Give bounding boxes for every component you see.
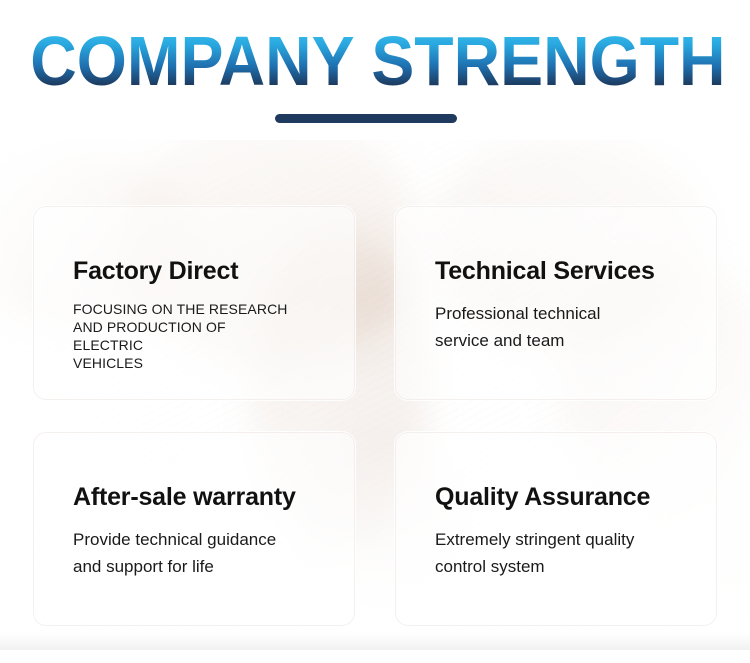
title-underline-rule (275, 114, 457, 123)
company-strength-banner: COMPANY STRENGTH Factory Direct FOCUSING… (0, 0, 750, 663)
card-title: Factory Direct (73, 258, 355, 286)
card-description: Provide technical guidance and support f… (73, 526, 323, 580)
card-description: FOCUSING ON THE RESEARCH AND PRODUCTION … (73, 300, 288, 372)
header: COMPANY STRENGTH (0, 0, 750, 150)
card-title: Quality Assurance (435, 484, 717, 512)
strength-card-quality-assurance[interactable]: Quality Assurance Extremely stringent qu… (394, 431, 718, 627)
strength-card-after-sale-warranty[interactable]: After-sale warranty Provide technical gu… (32, 431, 356, 627)
page-title: COMPANY STRENGTH (30, 26, 725, 96)
strength-card-grid: Factory Direct FOCUSING ON THE RESEARCH … (32, 205, 718, 627)
strength-card-technical-services[interactable]: Technical Services Professional technica… (394, 205, 718, 401)
strength-card-factory-direct[interactable]: Factory Direct FOCUSING ON THE RESEARCH … (32, 205, 356, 401)
card-description: Extremely stringent quality control syst… (435, 526, 685, 580)
card-description: Professional technical service and team (435, 300, 685, 354)
card-title: Technical Services (435, 258, 717, 286)
card-title: After-sale warranty (73, 484, 355, 512)
